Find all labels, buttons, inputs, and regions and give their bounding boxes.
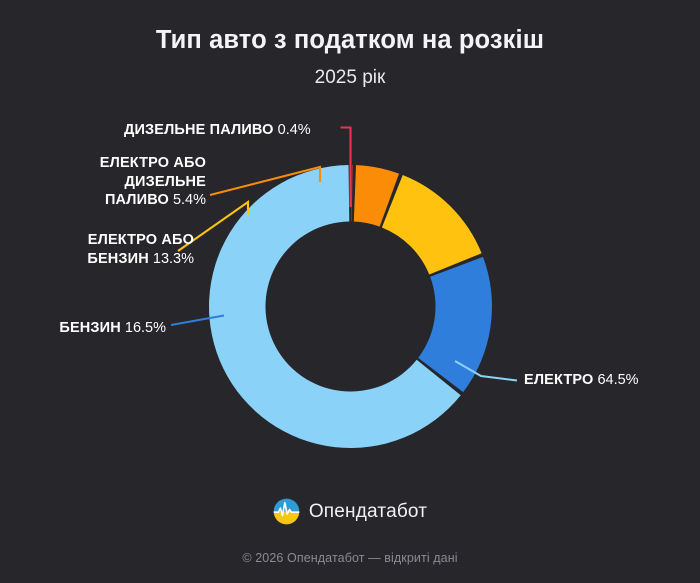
donut-chart <box>0 0 700 583</box>
donut-slice[interactable] <box>351 165 352 222</box>
infographic-canvas: Тип авто з податком на розкіш 2025 рік <box>0 0 700 583</box>
opendatabot-logo-icon <box>273 498 300 525</box>
copyright-text: © 2026 Опендатабот — відкриті дані <box>0 551 700 565</box>
brand-block: Опендатабот <box>0 498 700 525</box>
donut-slice[interactable] <box>382 175 482 275</box>
donut-chart-svg <box>0 0 700 583</box>
donut-segments-group <box>209 165 492 448</box>
brand-name: Опендатабот <box>309 501 427 523</box>
